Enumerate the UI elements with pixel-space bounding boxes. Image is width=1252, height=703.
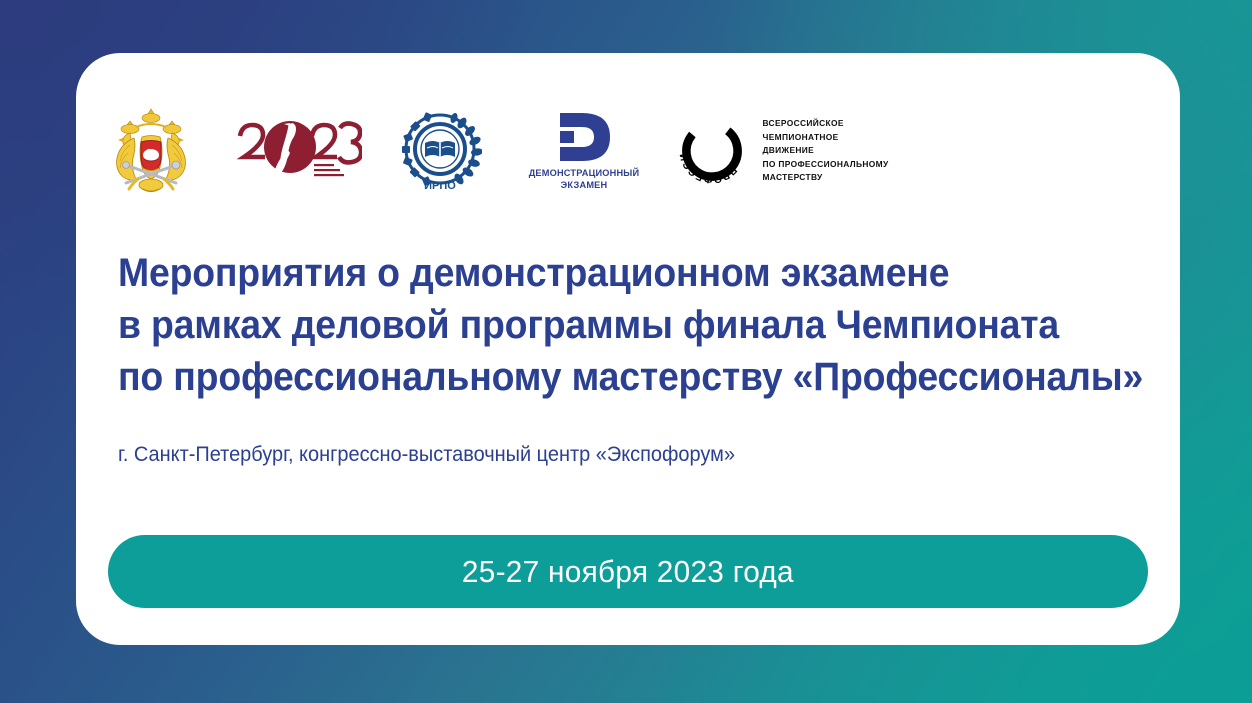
coat-of-arms-icon [108, 105, 194, 197]
page-title-line-2: в рамках деловой программы финала Чемпио… [118, 299, 1081, 351]
professionals-caption-line1: ВСЕРОССИЙСКОЕ [762, 117, 888, 131]
professionals-caption-line4: ПО ПРОФЕССИОНАЛЬНОМУ [762, 158, 888, 172]
poster-background: ИРПО ДЕМОНСТРАЦИОННЫЙ ЭКЗАМЕН [0, 0, 1252, 703]
venue-text: г. Санкт-Петербург, конгрессно-выставочн… [118, 441, 735, 469]
event-date-banner: 25-27 ноября 2023 года [108, 535, 1148, 608]
professionals-caption-line3: ДВИЖЕНИЕ [762, 144, 888, 158]
demo-exam-caption-line1: ДЕМОНСТРАЦИОННЫЙ [529, 168, 640, 180]
irpo-icon: ИРПО [402, 109, 482, 193]
demo-exam-icon: ДЕМОНСТРАЦИОННЫЙ ЭКЗАМЕН [524, 109, 644, 193]
page-title-line-3: по профессиональному мастерству «Професс… [118, 351, 1081, 403]
page-title: Мероприятия о демонстрационном экзамене … [118, 247, 1148, 403]
professionals-caption-line5: МАСТЕРСТВУ [762, 171, 888, 185]
page-title-line-1: Мероприятия о демонстрационном экзамене [118, 247, 1081, 299]
professionals-caption-line2: ЧЕМПИОНАТНОЕ [762, 131, 888, 145]
content-card: ИРПО ДЕМОНСТРАЦИОННЫЙ ЭКЗАМЕН [76, 53, 1180, 645]
demo-exam-caption-line2: ЭКЗАМЕН [529, 180, 640, 192]
year-of-teacher-2023-icon [232, 110, 362, 192]
event-date-text: 25-27 ноября 2023 года [462, 554, 794, 590]
logo-row: ИРПО ДЕМОНСТРАЦИОННЫЙ ЭКЗАМЕН [108, 103, 1148, 199]
irpo-label: ИРПО [424, 180, 456, 192]
professionals-icon: ПРОФЕССИОНАЛЫ ВСЕРОССИЙСКОЕ ЧЕМПИОНАТНОЕ… [684, 111, 880, 191]
